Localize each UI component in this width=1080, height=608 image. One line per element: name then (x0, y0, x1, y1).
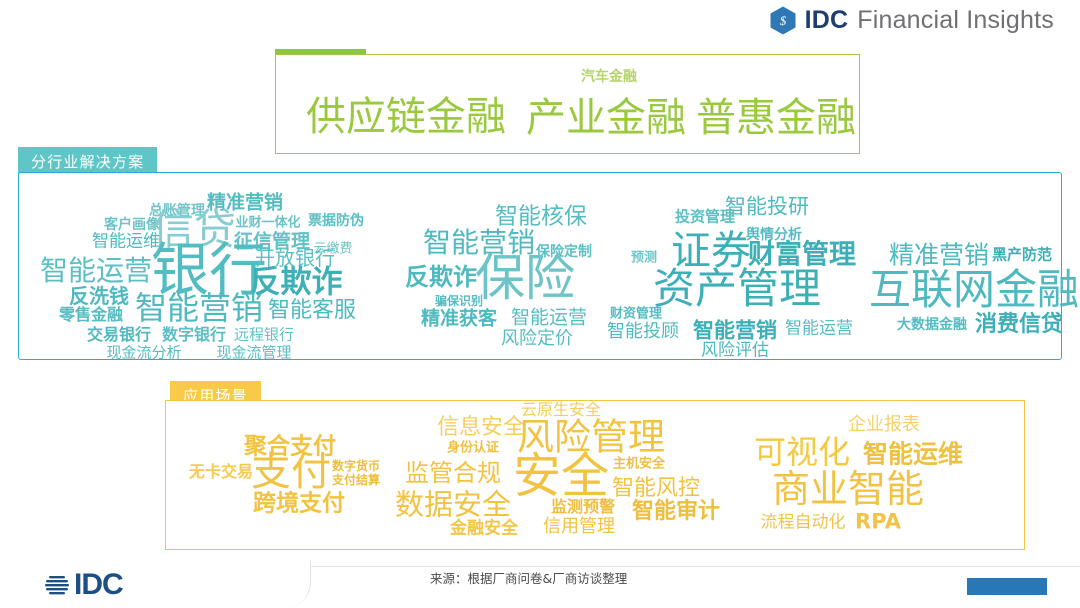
cloud-word: 产业金融 (526, 98, 686, 138)
source-note: 来源：根据厂商问卷&厂商访谈整理 (430, 568, 627, 587)
cloud-word: 支付 (251, 452, 331, 492)
cloud-word: 数字货币 (332, 460, 380, 472)
cloud-word: 汽车金融 (581, 70, 637, 84)
cloud-word: 主机安全 (613, 458, 665, 471)
panel-industry-solutions: 总账管理精准营销客户画像信贷业财一体化票据防伪智能运维征信管理云缴费智能运营银行… (18, 172, 1062, 360)
cloud-word: 身份认证 (447, 442, 499, 455)
cloud-word: 智能投研 (725, 197, 809, 218)
footer-accent-block (967, 578, 1047, 595)
cloud-word: 无卡交易 (189, 464, 253, 480)
wordcloud-application-scenarios: 云原生安全信息安全风险管理企业报表身份认证聚合支付可视化智能运维无卡交易支付数字… (166, 401, 1024, 549)
cloud-word: 黑产防范 (992, 248, 1052, 263)
wordcloud-industry-application: 供应链金融汽车金融产业金融普惠金融 (276, 55, 859, 153)
cloud-word: 商业智能 (772, 470, 924, 508)
cloud-word: 风险定价 (501, 330, 573, 348)
panel-industry-application: 供应链金融汽车金融产业金融普惠金融 (275, 54, 860, 154)
cloud-word: 智能营销 (693, 321, 777, 342)
cloud-word: 智能运营 (785, 321, 853, 338)
idc-hexagon-badge-icon: $ (770, 6, 796, 35)
cloud-word: 远程银行 (234, 328, 294, 343)
cloud-word: 投资管理 (675, 210, 735, 225)
cloud-word: 智能审计 (632, 501, 720, 523)
cloud-word: 智能客服 (268, 300, 356, 322)
cloud-word: 现金流分析 (106, 346, 181, 361)
footer-idc-text: IDC (74, 568, 123, 602)
cloud-word: 普惠金融 (696, 98, 856, 138)
cloud-word: 互联网金融 (869, 269, 1079, 311)
cloud-word: 票据防伪 (308, 214, 364, 228)
cloud-word: 金融安全 (450, 521, 518, 538)
brand-idc: IDC (805, 6, 849, 35)
cloud-word: 跨境支付 (253, 493, 345, 516)
cloud-word: 精准营销 (889, 243, 989, 268)
cloud-word: 反欺诈 (405, 265, 477, 289)
cloud-word: 智能营销 (135, 292, 263, 324)
cloud-word: 反洗钱 (69, 286, 129, 306)
cloud-word: 预测 (631, 252, 657, 265)
cloud-word: 财资管理 (610, 308, 662, 321)
cloud-word: 供应链金融 (306, 97, 506, 137)
wordcloud-industry-solutions: 总账管理精准营销客户画像信贷业财一体化票据防伪智能运维征信管理云缴费智能运营银行… (19, 173, 1061, 359)
cloud-word: 智能风控 (612, 478, 700, 500)
cloud-word: 企业报表 (848, 416, 920, 434)
cloud-word: 数字银行 (162, 327, 226, 343)
cloud-word: 智能运维 (863, 442, 963, 467)
cloud-word: 骗保识别 (435, 295, 483, 307)
cloud-word: 智能运营 (511, 309, 587, 328)
cloud-word: 精准获客 (421, 310, 497, 329)
cloud-word: 保险 (475, 253, 575, 303)
idc-financial-insights-logo: $ IDC Financial Insights (770, 6, 1054, 35)
footer-idc-logo: IDC (42, 568, 123, 602)
cloud-word: 智能运营 (40, 257, 152, 285)
cloud-word: 智能运维 (92, 234, 160, 251)
cloud-word: 可视化 (754, 436, 850, 468)
cloud-word: 信用管理 (543, 518, 615, 536)
cloud-word: 现金流管理 (216, 346, 291, 361)
cloud-word: 信息安全 (437, 417, 525, 439)
cloud-word: 业财一体化 (235, 217, 300, 230)
cloud-word: 监测预警 (551, 499, 615, 515)
brand-financial-insights: Financial Insights (857, 6, 1054, 35)
cloud-word: 反欺诈 (250, 268, 343, 299)
cloud-word: 流程自动化 (761, 515, 846, 532)
cloud-word: 风险评估 (701, 343, 769, 360)
cloud-word: 支付结算 (332, 474, 380, 486)
cloud-word: 安全 (513, 452, 609, 500)
cloud-word: RPA (855, 512, 901, 533)
cloud-word: 大数据金融 (897, 318, 967, 332)
cloud-word: 消费信贷 (975, 314, 1063, 336)
cloud-word: 零售金融 (59, 307, 123, 323)
cloud-word: 数据安全 (395, 491, 511, 520)
svg-text:$: $ (779, 13, 786, 28)
cloud-word: 智能投顾 (607, 323, 679, 341)
idc-globe-icon (42, 570, 72, 600)
slide: $ IDC Financial Insights 产业应用 供应链金融汽车金融产… (0, 0, 1080, 608)
panel-application-scenarios: 云原生安全信息安全风险管理企业报表身份认证聚合支付可视化智能运维无卡交易支付数字… (165, 400, 1025, 550)
cloud-word: 交易银行 (87, 327, 151, 343)
cloud-word: 资产管理 (653, 268, 821, 310)
cloud-word: 监管合规 (405, 461, 501, 485)
